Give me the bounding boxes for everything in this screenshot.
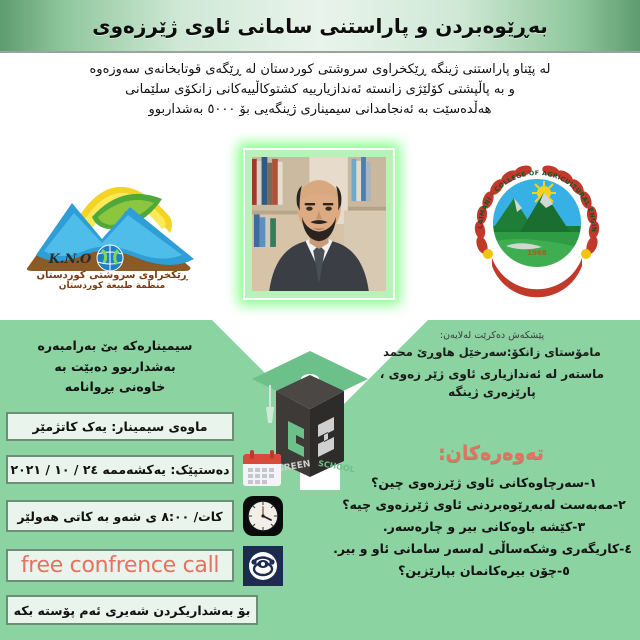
seminar-date-text: دەستپێک: یەکشەممە ٢٤ / ١٠ / ٢٠٢١ (10, 462, 229, 477)
topics-heading: تەوەرەکان: (366, 442, 616, 464)
seminar-duration-box: ماوەی سیمینار: یەک کاتژمێر (6, 412, 234, 441)
seminar-time-text: کات/ ٨:٠٠ ی شەو بە کاتی هەولێر (17, 509, 222, 524)
slogan-line-2: بەشداربوو دەبێت بە (4, 357, 226, 378)
slogan-line-3: خاوەنی بڕوانامە (4, 377, 226, 398)
university-logo-graphic: UNIVERSITY OF SULAIMANI - COLLEGE OF AGR… (462, 150, 612, 300)
kno-acronym: K.N.O (48, 252, 92, 267)
speaker-photo-frame (243, 148, 395, 300)
intro-paragraph: لە پێناو پاراستنی ژینگە ڕێکخراوی سروشتی … (0, 60, 640, 120)
speaker-portrait (252, 157, 386, 291)
list-item: ١-سەرچاوەکانی ئاوی ژێرزەوی چین؟ (336, 472, 632, 494)
kno-kurdish-name: ڕێکخراوی سروشتی کوردستان (36, 270, 188, 281)
poster-root: بەڕێوەبردن و پاراستنی سامانی ئاوی ژێرزەو… (0, 0, 640, 640)
list-item: ٥-چۆن بیرەکانمان بپارێزین؟ (336, 560, 632, 582)
university-logo: UNIVERSITY OF SULAIMANI - COLLEGE OF AGR… (462, 150, 612, 300)
list-item: ٤-کاریگەری وشکەساڵی لەسەر سامانی ئاو و ب… (336, 538, 632, 560)
list-item: ٢-مەبەست لەبەڕێوەبردنی ئاوی ژێرزەوی چیە؟ (336, 494, 632, 516)
page-title: بەڕێوەبردن و پاراستنی سامانی ئاوی ژێرزەو… (92, 14, 547, 38)
share-post-text: بۆ بەشداریکردن شەیری ئەم پۆستە بکە (14, 603, 251, 618)
presenter-name: مامۆستای زانکۆ:سەرخێل هاوڕێ محمد (358, 345, 626, 359)
intro-line-1: لە پێناو پاراستنی ژینگە ڕێکخراوی سروشتی … (22, 60, 618, 80)
university-logo-year: 1968 (527, 249, 547, 257)
seminar-time-box: کات/ ٨:٠٠ ی شەو بە کاتی هەولێر (6, 500, 234, 532)
telephone-icon (242, 545, 284, 587)
conference-call-text: free confrence call (21, 553, 219, 578)
conference-call-box: free confrence call (6, 549, 234, 582)
presenter-block: پێشکەش دەکرێت لەلایەن: مامۆستای زانکۆ:سە… (358, 330, 626, 401)
kno-logo: K.N.O ڕێکخراوی سروشتی کوردستان منظمة طبي… (22, 155, 202, 290)
kno-logo-graphic: K.N.O ڕێکخراوی سروشتی کوردستان منظمة طبي… (22, 155, 202, 290)
seminar-date-box: دەستپێک: یەکشەممە ٢٤ / ١٠ / ٢٠٢١ (6, 455, 234, 484)
share-post-box: بۆ بەشداریکردن شەیری ئەم پۆستە بکە (6, 595, 258, 625)
seminar-slogan: سیمینارەکە بێ بەرامبەرە بەشداربوو دەبێت … (4, 336, 226, 398)
presenter-title: ماستەر لە ئەندازیاری ئاوی ژێر زەوی ، پار… (358, 365, 626, 401)
slogan-line-1: سیمینارەکە بێ بەرامبەرە (4, 336, 226, 357)
topics-list: ١-سەرچاوەکانی ئاوی ژێرزەوی چین؟ ٢-مەبەست… (336, 472, 632, 581)
intro-line-2: و بە پاڵپشتی کۆلێژی زانستە ئەندازیارییە … (22, 80, 618, 100)
calendar-icon (240, 448, 284, 490)
intro-line-3: هەڵدەسێت بە ئەنجامدانی سیمیناری ژینگەیی … (22, 100, 618, 120)
clock-icon (242, 495, 284, 537)
seminar-duration-text: ماوەی سیمینار: یەک کاتژمێر (32, 419, 207, 434)
avatar (252, 157, 386, 291)
presenter-prefix: پێشکەش دەکرێت لەلایەن: (358, 330, 626, 341)
kno-arabic-name: منظمة طبيعة كوردستان (59, 281, 165, 290)
poster-header-banner: بەڕێوەبردن و پاراستنی سامانی ئاوی ژێرزەو… (0, 0, 640, 53)
list-item: ٣-کێشە باوەکانی بیر و چارەسەر. (336, 516, 632, 538)
